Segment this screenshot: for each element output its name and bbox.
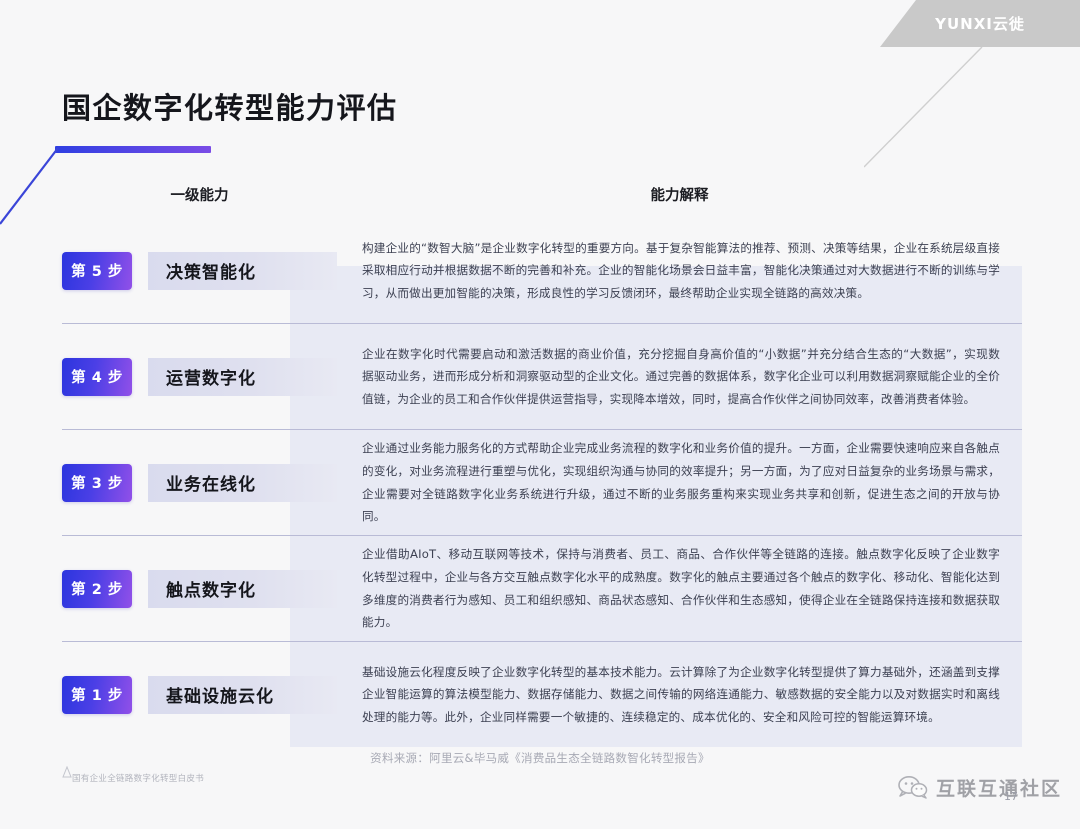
table-header-row: 一级能力 能力解释 <box>62 170 1022 218</box>
capability-description: 构建企业的“数智大脑”是企业数字化转型的重要方向。基于复杂智能算法的推荐、预测、… <box>337 237 1022 305</box>
table-row[interactable]: 第 1 步 基础设施云化 基础设施云化程度反映了企业数字化转型的基本技术能力。云… <box>62 641 1022 747</box>
page-title: 国企数字化转型能力评估 <box>62 85 398 127</box>
table-row[interactable]: 第 4 步 运营数字化 企业在数字化时代需要启动和激活数据的商业价值，充分挖掘自… <box>62 323 1022 429</box>
source-attribution: 资料来源：阿里云&毕马威《消费品生态全链路数智化转型报告》 <box>0 750 1080 766</box>
footnote-marker-icon <box>62 766 72 778</box>
capability-table: 一级能力 能力解释 第 5 步 决策智能化 构建企业的“数智大脑”是企业数字化转… <box>62 170 1022 747</box>
watermark-text: 互联互通社区 <box>936 774 1062 801</box>
capability-name: 业务在线化 <box>148 464 337 502</box>
brand-logo-text: YUNXI云徙 <box>935 13 1025 34</box>
capability-description: 企业在数字化时代需要启动和激活数据的商业价值，充分挖掘自身高价值的“小数据”并充… <box>337 343 1022 411</box>
table-row[interactable]: 第 2 步 触点数字化 企业借助AIoT、移动互联网等技术，保持与消费者、员工、… <box>62 535 1022 641</box>
step-badge: 第 4 步 <box>62 358 132 396</box>
wechat-icon <box>898 775 928 801</box>
step-badge-cell: 第 5 步 <box>62 252 148 290</box>
step-badge: 第 5 步 <box>62 252 132 290</box>
step-badge-cell: 第 3 步 <box>62 464 148 502</box>
watermark: 互联互通社区 <box>898 774 1062 801</box>
capability-name: 基础设施云化 <box>148 676 337 714</box>
column-header-capability: 一级能力 <box>62 184 337 205</box>
capability-name: 触点数字化 <box>148 570 337 608</box>
step-badge-cell: 第 2 步 <box>62 570 148 608</box>
capability-description: 企业借助AIoT、移动互联网等技术，保持与消费者、员工、商品、合作伙伴等全链路的… <box>337 543 1022 633</box>
brand-banner: YUNXI云徙 <box>880 0 1080 47</box>
table-row[interactable]: 第 5 步 决策智能化 构建企业的“数智大脑”是企业数字化转型的重要方向。基于复… <box>62 218 1022 323</box>
table-row[interactable]: 第 3 步 业务在线化 企业通过业务能力服务化的方式帮助企业完成业务流程的数字化… <box>62 429 1022 535</box>
capability-name: 运营数字化 <box>148 358 337 396</box>
step-badge-cell: 第 4 步 <box>62 358 148 396</box>
capability-description: 基础设施云化程度反映了企业数字化转型的基本技术能力。云计算除了为企业数字化转型提… <box>337 661 1022 729</box>
page-number: 17 <box>1004 790 1018 803</box>
column-header-description: 能力解释 <box>337 184 1022 205</box>
capability-name: 决策智能化 <box>148 252 337 290</box>
accent-diagonal-line-icon <box>0 146 60 226</box>
table-body: 第 5 步 决策智能化 构建企业的“数智大脑”是企业数字化转型的重要方向。基于复… <box>62 218 1022 747</box>
banner-tail-line-icon <box>864 47 984 169</box>
capability-description: 企业通过业务能力服务化的方式帮助企业完成业务流程的数字化和业务价值的提升。一方面… <box>337 437 1022 527</box>
slide-root: YUNXI云徙 国企数字化转型能力评估 一级能力 能力解释 第 5 步 决策智能… <box>0 0 1080 829</box>
step-badge: 第 1 步 <box>62 676 132 714</box>
step-badge: 第 2 步 <box>62 570 132 608</box>
step-badge-cell: 第 1 步 <box>62 676 148 714</box>
footnote-text: 国有企业全链路数字化转型白皮书 <box>72 772 204 784</box>
step-badge: 第 3 步 <box>62 464 132 502</box>
title-accent-bar <box>55 146 211 153</box>
